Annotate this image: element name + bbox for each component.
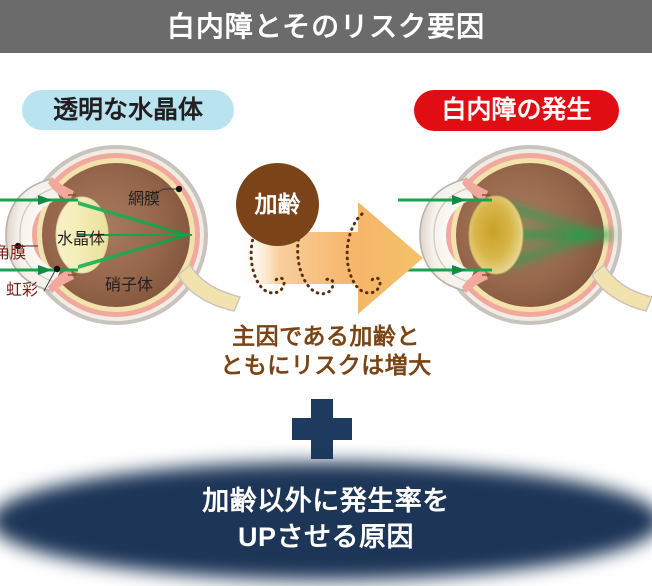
aging-badge-text: 加齢 [255,193,301,216]
optic-nerve-shape [592,265,652,311]
leader-dot-iris [54,266,60,272]
middle-caption: 主因である加齢と ともにリスクは増大 [0,322,652,380]
eye-label-vitreous: 硝子体 [105,278,153,294]
page-title: 白内障とそのリスク要因 [167,13,485,41]
eye-label-cornea: 角膜 [0,246,26,262]
label-badge-cataract: 白内障の発生 [414,90,619,131]
leader-dot-retina [176,186,182,192]
middle-caption-line1: 主因である加齢と [0,322,652,351]
plus-icon-vertical-bar [311,399,333,459]
label-badge-clear-lens: 透明な水晶体 [22,90,234,130]
label-badge-cataract-text: 白内障の発生 [441,98,591,123]
aging-badge: 加齢 [236,163,319,246]
footer-caption-line1: 加齢以外に発生率を [0,484,652,520]
footer-caption-line2: UPさせる原因 [0,520,652,556]
optic-nerve-shape [178,265,240,311]
cataract-eye-diagram [412,143,647,328]
plus-icon [292,399,352,459]
label-badge-clear-lens-text: 透明な水晶体 [53,98,203,123]
eye-label-lens: 水晶体 [57,232,105,248]
footer-caption: 加齢以外に発生率を UPさせる原因 [0,484,652,556]
normal-eye-diagram [0,143,242,328]
eye-label-iris: 虹彩 [6,283,38,299]
cataract-lens-shape [469,196,523,274]
eye-label-retina: 網膜 [128,192,160,208]
page-title-bar: 白内障とそのリスク要因 [0,0,652,53]
middle-caption-line2: ともにリスクは増大 [0,351,652,380]
